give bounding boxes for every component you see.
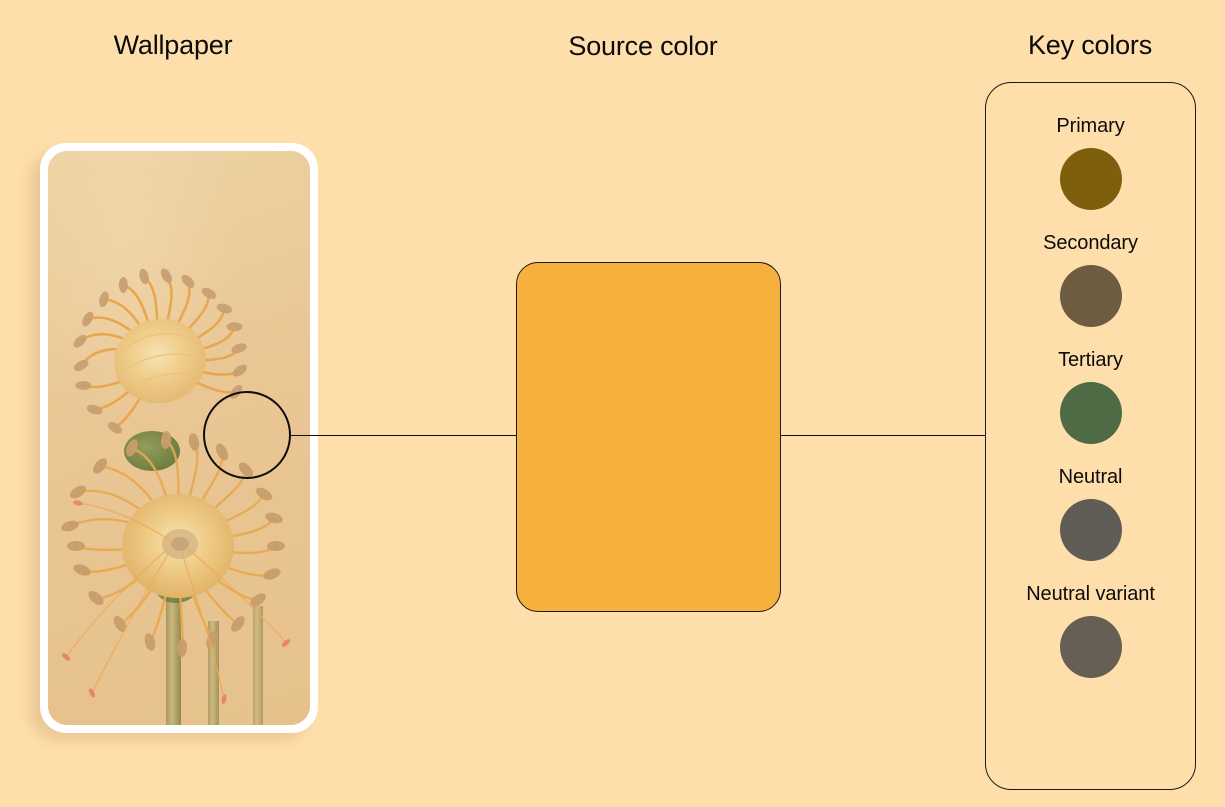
key-color-neutral: Neutral [1059, 466, 1123, 561]
key-color-swatch [1060, 499, 1122, 561]
source-color-column-heading: Source color [568, 31, 717, 62]
key-color-neutral-variant: Neutral variant [1026, 583, 1155, 678]
key-color-label: Neutral [1059, 466, 1123, 489]
sampled-region-circle [203, 391, 291, 479]
connector-wallpaper-to-source [291, 435, 517, 436]
wallpaper-column-heading: Wallpaper [114, 30, 233, 61]
key-color-label: Neutral variant [1026, 583, 1155, 606]
key-color-label: Primary [1056, 115, 1124, 138]
key-color-swatch [1060, 265, 1122, 327]
key-color-label: Secondary [1043, 232, 1138, 255]
diagram-canvas: Wallpaper Source color Key colors [0, 0, 1225, 807]
key-color-label: Tertiary [1058, 349, 1123, 372]
source-color-swatch [516, 262, 781, 612]
key-colors-panel: Primary Secondary Tertiary Neutral Neutr… [985, 82, 1196, 790]
key-color-swatch [1060, 148, 1122, 210]
key-color-tertiary: Tertiary [1058, 349, 1123, 444]
key-color-primary: Primary [1056, 115, 1124, 210]
key-color-swatch [1060, 616, 1122, 678]
connector-source-to-key-colors [780, 435, 986, 436]
key-colors-column-heading: Key colors [1028, 30, 1152, 61]
key-color-secondary: Secondary [1043, 232, 1138, 327]
key-color-swatch [1060, 382, 1122, 444]
